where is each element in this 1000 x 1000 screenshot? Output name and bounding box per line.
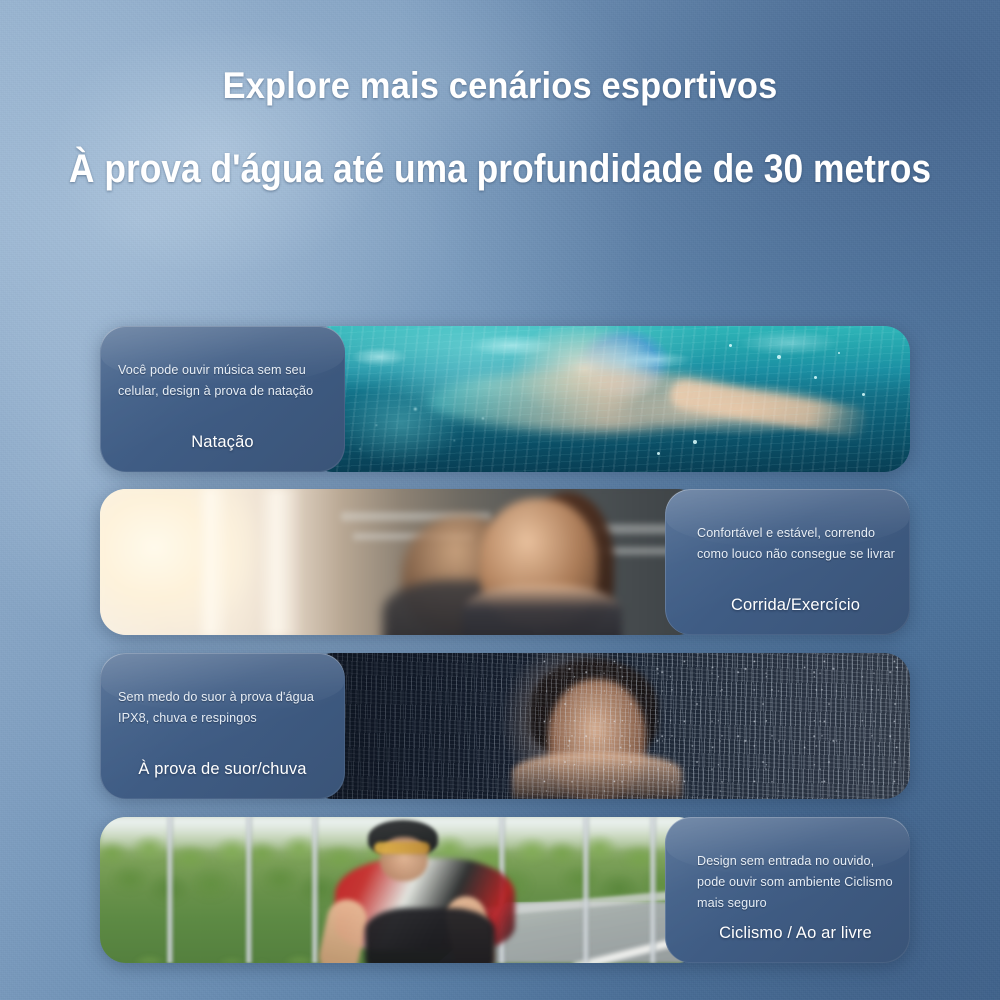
bubble-dot [729,344,732,347]
roadside-pole [649,817,657,963]
roadside-pole [245,817,253,963]
card-text-panel: Sem medo do suor à prova d'água IPX8, ch… [100,653,345,799]
card-category-label: Corrida/Exercício [665,596,910,615]
page-title: Explore mais cenários esportivos [35,67,965,104]
card-text-panel: Confortável e estável, correndo como lou… [665,489,910,635]
water-bubbles [319,381,524,466]
gym-running-women-photo [100,489,703,635]
water-surface-foam [307,326,910,382]
woman-in-rain-photo [307,653,910,799]
card-description: Design sem entrada no ouvido, pode ouvir… [665,851,910,914]
card-image-woman-in-rain [307,653,910,799]
card-description: Confortável e estável, correndo como lou… [665,523,910,565]
swimmer-underwater-photo [307,326,910,472]
feature-card-swimming[interactable]: Você pode ouvir música sem seu celular, … [100,326,910,472]
card-image-swimmer-underwater [307,326,910,472]
card-category-label: Ciclismo / Ao ar livre [665,924,910,943]
card-image-cyclist-on-road [100,817,703,963]
bubble-dot [814,376,817,379]
card-category-label: Natação [100,433,345,452]
roadside-pole [582,817,590,963]
feature-card-sweatproof[interactable]: Sem medo do suor à prova d'água IPX8, ch… [100,653,910,799]
cyclist-shorts [365,908,495,963]
bubble-dot [862,393,865,396]
roadside-pole [166,817,174,963]
photo-blur-overlay [100,489,703,635]
bubble-dot [693,440,697,444]
feature-card-cycling[interactable]: Design sem entrada no ouvido, pode ouvir… [100,817,910,963]
bubble-dot [657,452,660,455]
card-text-panel: Você pode ouvir música sem seu celular, … [100,326,345,472]
feature-card-running[interactable]: Confortável e estável, correndo como lou… [100,489,910,635]
card-category-label: À prova de suor/chuva [100,760,345,779]
page-subtitle: À prova d'água até uma profundidade de 3… [58,149,943,189]
roadside-pole [311,817,319,963]
cyclist-on-road-photo [100,817,703,963]
card-description: Sem medo do suor à prova d'água IPX8, ch… [100,687,345,729]
card-text-panel: Design sem entrada no ouvido, pode ouvir… [665,817,910,963]
water-spray-droplets [536,653,910,799]
cyclist-sunglasses [374,842,430,854]
heading-block: Explore mais cenários esportivos À prova… [0,0,1000,189]
card-image-gym-running [100,489,703,635]
card-description: Você pode ouvir música sem seu celular, … [100,360,345,402]
